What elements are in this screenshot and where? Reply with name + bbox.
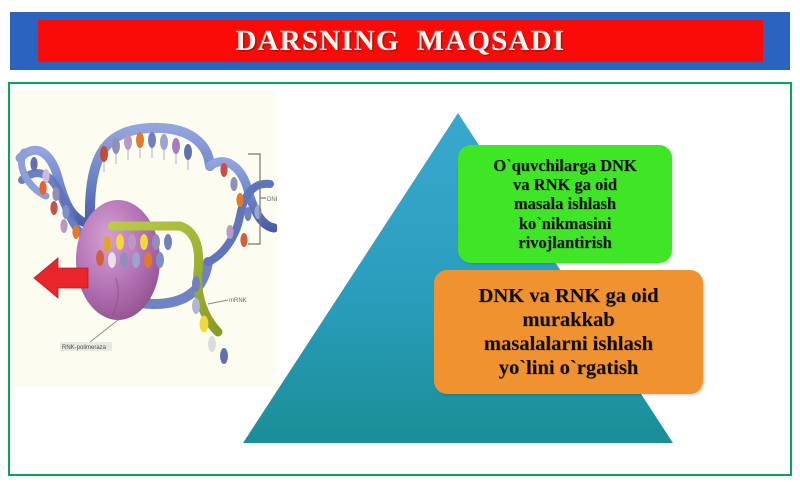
svg-text:RNK-polimeraza: RNK-polimeraza <box>62 345 107 351</box>
objective-orange-text: DNK va RNK ga oid murakkab masalalarni i… <box>440 284 697 381</box>
page-title: DARSNING MAQSADI <box>38 20 763 62</box>
objective-green-text: O`quvchilarga DNK va RNK ga oid masala i… <box>464 156 666 252</box>
slide-canvas: DARSNING MAQSADI <box>0 0 800 485</box>
objective-callout-orange: DNK va RNK ga oid murakkab masalalarni i… <box>434 270 703 394</box>
title-plate: DARSNING MAQSADI <box>38 20 763 62</box>
objective-callout-green: O`quvchilarga DNK va RNK ga oid masala i… <box>458 145 672 263</box>
title-banner: DARSNING MAQSADI <box>10 12 790 70</box>
